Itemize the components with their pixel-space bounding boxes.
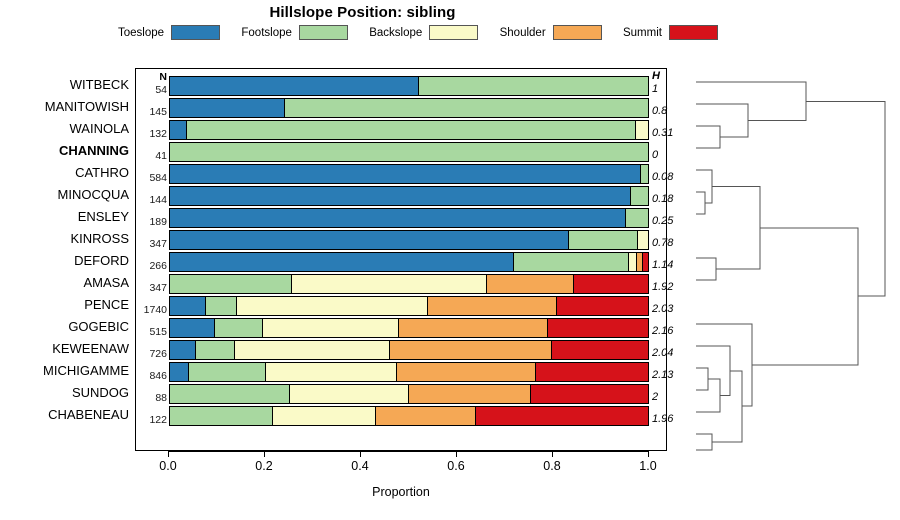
bar-segment-summit[interactable] xyxy=(574,275,648,293)
bar-segment-summit[interactable] xyxy=(557,297,648,315)
y-axis-labels: WITBECKMANITOWISHWAINOLACHANNINGCATHROMI… xyxy=(0,68,132,451)
bar-row[interactable]: 7262.04 xyxy=(136,339,666,361)
bar-segment-toeslope[interactable] xyxy=(170,341,196,359)
y-axis-label-witbeck: WITBECK xyxy=(70,74,129,96)
bar-row[interactable]: 3470.78 xyxy=(136,229,666,251)
y-axis-label-minocqua: MINOCQUA xyxy=(58,184,130,206)
bar-segment-summit[interactable] xyxy=(643,253,648,271)
bar-segment-toeslope[interactable] xyxy=(170,231,569,249)
y-axis-label-kinross: KINROSS xyxy=(70,228,129,250)
row-n-value: 726 xyxy=(136,348,167,360)
y-axis-label-wainola: WAINOLA xyxy=(70,118,129,140)
bar-segment-summit[interactable] xyxy=(531,385,648,403)
stacked-bar[interactable] xyxy=(169,120,649,140)
bar-row[interactable]: 2661.14 xyxy=(136,251,666,273)
x-axis-tick-label: 0.0 xyxy=(138,459,198,473)
bar-segment-footslope[interactable] xyxy=(187,121,636,139)
dendro-link-witbeck-a2 xyxy=(696,82,806,121)
bar-segment-footslope[interactable] xyxy=(170,275,292,293)
stacked-bar[interactable] xyxy=(169,98,649,118)
bar-segment-footslope[interactable] xyxy=(631,187,648,205)
bar-segment-backslope[interactable] xyxy=(237,297,428,315)
dendro-link-manitowish-a1 xyxy=(696,104,748,137)
row-n-value: 347 xyxy=(136,238,167,250)
legend-swatch-backslope xyxy=(429,25,478,40)
y-axis-label-deford: DEFORD xyxy=(74,250,129,272)
bar-row[interactable]: 410 xyxy=(136,141,666,163)
x-axis-tick xyxy=(168,451,169,457)
y-axis-label-manitowish: MANITOWISH xyxy=(45,96,129,118)
bar-segment-footslope[interactable] xyxy=(206,297,237,315)
stacked-bar[interactable] xyxy=(169,230,649,250)
row-n-value: 144 xyxy=(136,194,167,206)
row-n-value: 515 xyxy=(136,326,167,338)
dendrogram-svg xyxy=(680,68,900,451)
bar-segment-toeslope[interactable] xyxy=(170,209,626,227)
stacked-bar[interactable] xyxy=(169,208,649,228)
legend-label: Backslope xyxy=(369,27,422,39)
legend-item-toeslope: Toeslope xyxy=(118,25,220,40)
bar-segment-footslope[interactable] xyxy=(196,341,234,359)
x-axis-tick xyxy=(264,451,265,457)
dendro-link-amasa-c5 xyxy=(696,324,752,406)
bar-segment-footslope[interactable] xyxy=(170,385,290,403)
bar-segment-footslope[interactable] xyxy=(189,363,265,381)
bar-segment-toeslope[interactable] xyxy=(170,99,285,117)
legend-label: Summit xyxy=(623,27,662,39)
bar-segment-backslope[interactable] xyxy=(292,275,487,293)
x-axis-tick xyxy=(552,451,553,457)
bar-segment-footslope[interactable] xyxy=(569,231,638,249)
row-n-value: 132 xyxy=(136,128,167,140)
bar-segment-toeslope[interactable] xyxy=(170,121,187,139)
bar-row[interactable]: 1890.25 xyxy=(136,207,666,229)
row-n-value: 88 xyxy=(136,392,167,404)
bar-segment-footslope[interactable] xyxy=(215,319,263,337)
bar-segment-backslope[interactable] xyxy=(636,121,648,139)
stacked-bar[interactable] xyxy=(169,362,649,382)
x-axis-tick-label: 0.6 xyxy=(426,459,486,473)
stacked-bar[interactable] xyxy=(169,318,649,338)
stacked-bar[interactable] xyxy=(169,296,649,316)
legend-swatch-shoulder xyxy=(553,25,602,40)
y-axis-label-gogebic: GOGEBIC xyxy=(68,316,129,338)
dendro-link-root xyxy=(806,101,885,296)
legend-label: Shoulder xyxy=(500,27,546,39)
bar-segment-shoulder[interactable] xyxy=(376,407,476,425)
bar-segment-shoulder[interactable] xyxy=(397,363,536,381)
bar-segment-backslope[interactable] xyxy=(235,341,390,359)
stacked-bar[interactable] xyxy=(169,406,649,426)
x-axis-tick-label: 0.8 xyxy=(522,459,582,473)
bar-row[interactable]: 1221.96 xyxy=(136,405,666,427)
stacked-bar[interactable] xyxy=(169,340,649,360)
bar-segment-backslope[interactable] xyxy=(629,253,638,271)
bar-segment-backslope[interactable] xyxy=(273,407,376,425)
dendro-link-clusterB-clusterC xyxy=(752,228,858,365)
dendro-link-b2-b3 xyxy=(712,187,760,270)
bar-segment-backslope[interactable] xyxy=(290,385,410,403)
x-axis-tick-label: 0.2 xyxy=(234,459,294,473)
stacked-bar[interactable] xyxy=(169,142,649,162)
stacked-bar[interactable] xyxy=(169,274,649,294)
bar-segment-footslope[interactable] xyxy=(285,99,648,117)
dendro-link-sundog-chabeneau xyxy=(696,434,712,450)
x-axis-line xyxy=(168,451,648,452)
bar-segment-footslope[interactable] xyxy=(170,143,648,161)
row-n-value: 189 xyxy=(136,216,167,228)
stacked-bar[interactable] xyxy=(169,384,649,404)
legend-label: Toeslope xyxy=(118,27,164,39)
bar-row[interactable]: 1440.18 xyxy=(136,185,666,207)
dendrogram xyxy=(680,68,900,451)
y-axis-label-michigamme: MICHIGAMME xyxy=(43,360,129,382)
x-axis-tick xyxy=(456,451,457,457)
stacked-bar-rows: NH5411450.81320.314105840.081440.181890.… xyxy=(136,69,666,450)
row-n-value: 846 xyxy=(136,370,167,382)
y-axis-label-channing: CHANNING xyxy=(59,140,129,162)
legend-item-summit: Summit xyxy=(623,25,718,40)
x-axis-tick xyxy=(648,451,649,457)
dendro-link-gogebic-keweenaw xyxy=(696,368,708,390)
legend-label: Footslope xyxy=(241,27,292,39)
bar-segment-toeslope[interactable] xyxy=(170,77,419,95)
legend-swatch-toeslope xyxy=(171,25,220,40)
bar-segment-footslope[interactable] xyxy=(419,77,648,95)
bar-segment-footslope[interactable] xyxy=(514,253,629,271)
y-axis-label-keweenaw: KEWEENAW xyxy=(52,338,129,360)
bar-row[interactable]: 5840.08 xyxy=(136,163,666,185)
bar-segment-footslope[interactable] xyxy=(626,209,648,227)
legend: ToeslopeFootslopeBackslopeShoulderSummit xyxy=(118,24,718,41)
bar-row[interactable]: 882 xyxy=(136,383,666,405)
bar-segment-summit[interactable] xyxy=(536,363,648,381)
legend-item-backslope: Backslope xyxy=(369,25,478,40)
x-axis-tick xyxy=(360,451,361,457)
row-n-value: 266 xyxy=(136,260,167,272)
x-axis-title: Proportion xyxy=(135,485,667,499)
y-axis-label-sundog: SUNDOG xyxy=(72,382,129,404)
bar-segment-backslope[interactable] xyxy=(638,231,648,249)
legend-item-footslope: Footslope xyxy=(241,25,348,40)
bar-segment-toeslope[interactable] xyxy=(170,297,206,315)
bar-segment-shoulder[interactable] xyxy=(487,275,574,293)
bar-segment-backslope[interactable] xyxy=(266,363,397,381)
row-n-value: 41 xyxy=(136,150,167,162)
bar-segment-footslope[interactable] xyxy=(170,407,273,425)
bar-segment-shoulder[interactable] xyxy=(390,341,553,359)
y-axis-label-ensley: ENSLEY xyxy=(78,206,129,228)
y-axis-label-amasa: AMASA xyxy=(83,272,129,294)
row-n-value: 145 xyxy=(136,106,167,118)
bar-segment-toeslope[interactable] xyxy=(170,187,631,205)
dendro-link-minocqua-ensley xyxy=(696,192,705,214)
plot-area: NH5411450.81320.314105840.081440.181890.… xyxy=(135,68,667,451)
bar-row[interactable]: 1320.31 xyxy=(136,119,666,141)
dendro-link-wainola-channing xyxy=(696,126,720,148)
dendro-link-c3-c4 xyxy=(712,371,742,442)
bar-segment-toeslope[interactable] xyxy=(170,253,514,271)
bar-segment-summit[interactable] xyxy=(548,319,648,337)
y-axis-label-chabeneau: CHABENEAU xyxy=(48,404,129,426)
bar-segment-shoulder[interactable] xyxy=(428,297,557,315)
bar-row[interactable]: 5152.16 xyxy=(136,317,666,339)
stacked-bar[interactable] xyxy=(169,252,649,272)
bar-segment-shoulder[interactable] xyxy=(399,319,547,337)
bar-row[interactable]: 541 xyxy=(136,75,666,97)
dendro-link-kinross-deford xyxy=(696,258,716,280)
dendro-link-pence-c2 xyxy=(696,346,730,396)
row-n-value: 54 xyxy=(136,84,167,96)
bar-segment-shoulder[interactable] xyxy=(409,385,531,403)
y-axis-label-cathro: CATHRO xyxy=(75,162,129,184)
x-axis-tick-label: 0.4 xyxy=(330,459,390,473)
bar-row[interactable]: 1450.8 xyxy=(136,97,666,119)
bar-segment-toeslope[interactable] xyxy=(170,319,215,337)
legend-swatch-footslope xyxy=(299,25,348,40)
bar-segment-toeslope[interactable] xyxy=(170,363,189,381)
row-n-value: 1740 xyxy=(136,304,167,316)
bar-segment-footslope[interactable] xyxy=(641,165,648,183)
row-n-value: 122 xyxy=(136,414,167,426)
x-axis-tick-label: 1.0 xyxy=(618,459,678,473)
row-n-value: 347 xyxy=(136,282,167,294)
bar-segment-backslope[interactable] xyxy=(263,319,399,337)
bar-row[interactable]: 8462.13 xyxy=(136,361,666,383)
stacked-bar[interactable] xyxy=(169,186,649,206)
row-n-value: 584 xyxy=(136,172,167,184)
stacked-bar[interactable] xyxy=(169,76,649,96)
y-axis-label-pence: PENCE xyxy=(84,294,129,316)
page-title: Hillslope Position: sibling xyxy=(0,4,725,21)
bar-segment-summit[interactable] xyxy=(552,341,648,359)
bar-segment-summit[interactable] xyxy=(476,407,648,425)
bar-row[interactable]: 17402.03 xyxy=(136,295,666,317)
legend-item-shoulder: Shoulder xyxy=(500,25,602,40)
bar-segment-toeslope[interactable] xyxy=(170,165,641,183)
dendro-link-cathro-b1 xyxy=(696,170,712,203)
stacked-bar[interactable] xyxy=(169,164,649,184)
legend-swatch-summit xyxy=(669,25,718,40)
bar-row[interactable]: 3471.92 xyxy=(136,273,666,295)
